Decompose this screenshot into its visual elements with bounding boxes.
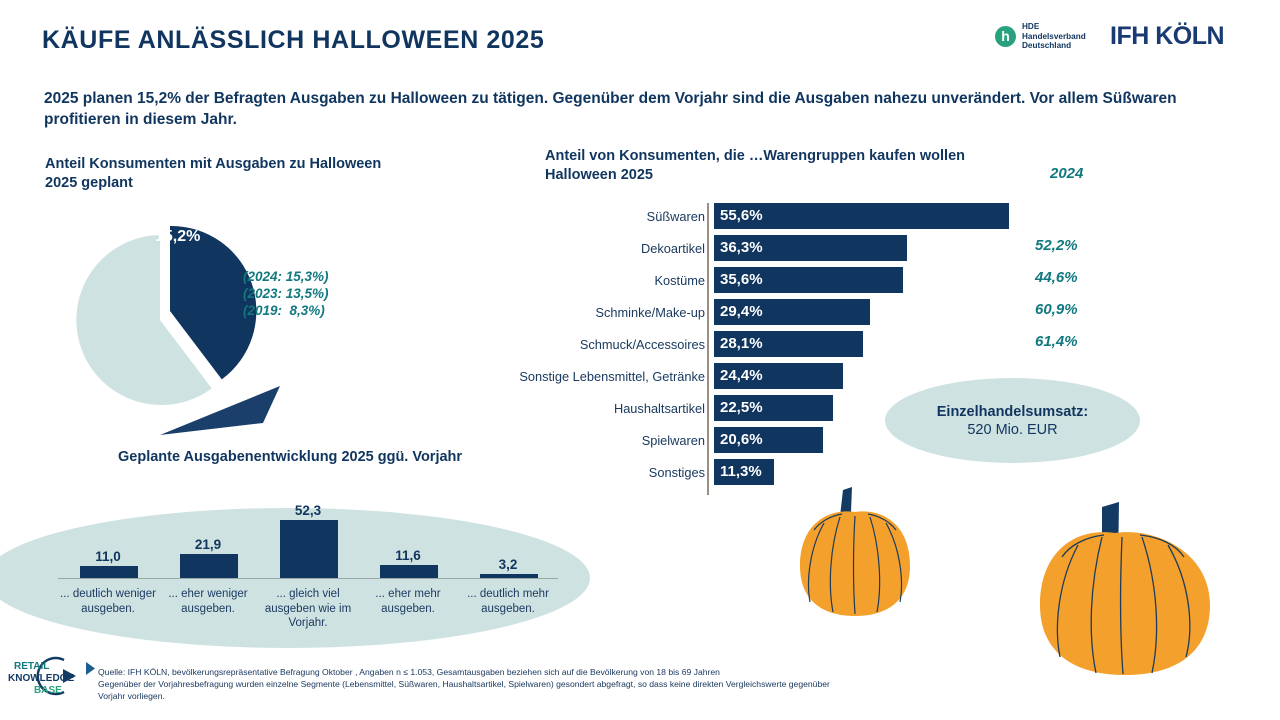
svg-text:BASE: BASE — [34, 685, 62, 696]
distribution-column: 21,9... eher weniger ausgeben. — [158, 515, 258, 645]
bar-value-label: 28,1% — [720, 331, 763, 357]
bar-category-label: Schmuck/Accessoires — [455, 337, 714, 352]
distribution-category-label: ... gleich viel ausgeben wie im Vorjahr. — [258, 587, 358, 631]
bar-value-label: 55,6% — [720, 203, 763, 229]
bar-value-label: 11,3% — [720, 459, 762, 485]
distribution-bar — [80, 566, 138, 578]
bar-track: 28,1% — [714, 331, 1015, 357]
pie-value-label: 15,2% — [155, 228, 200, 246]
distribution-value-label: 52,3 — [258, 503, 358, 518]
distribution-category-label: ... deutlich mehr ausgeben. — [458, 587, 558, 616]
footnote-line1: Quelle: IFH KÖLN, bevölkerungsrepräsenta… — [98, 667, 1268, 679]
footnote: Quelle: IFH KÖLN, bevölkerungsrepräsenta… — [98, 667, 1268, 702]
pumpkin-small-icon — [780, 468, 930, 623]
distribution-category-label: ... eher weniger ausgeben. — [158, 587, 258, 616]
retail-sales-label: Einzelhandelsumsatz: — [937, 404, 1088, 420]
distribution-value-label: 21,9 — [158, 537, 258, 552]
distribution-column: 3,2... deutlich mehr ausgeben. — [458, 515, 558, 645]
bar-category-label: Haushaltsartikel — [455, 401, 714, 416]
pie-history-note: (2024: 15,3%) (2023: 13,5%) (2019: 8,3%) — [243, 268, 329, 319]
distribution-value-label: 11,6 — [358, 548, 458, 563]
hde-mark-icon: h — [995, 26, 1016, 47]
bar-value-label: 29,4% — [720, 299, 763, 325]
prev-year-value: 60,9% — [1035, 301, 1078, 318]
bar-row: Kostüme35,6% — [455, 264, 1015, 296]
bar-category-label: Schminke/Make-up — [455, 305, 714, 320]
distribution-column: 11,0... deutlich weniger ausgeben. — [58, 515, 158, 645]
svg-text:KNOWLEDGE: KNOWLEDGE — [8, 673, 74, 684]
distribution-chart-title: Geplante Ausgabenentwicklung 2025 ggü. V… — [118, 448, 462, 467]
bar-value-label: 35,6% — [720, 267, 763, 293]
bar-track: 36,3% — [714, 235, 1015, 261]
distribution-chart: 11,0... deutlich weniger ausgeben.21,9..… — [58, 515, 558, 645]
bar-category-label: Sonstiges — [455, 465, 714, 480]
bar-row: Süßwaren55,6% — [455, 200, 1015, 232]
bar-value-label: 20,6% — [720, 427, 763, 453]
bar-chart-title: Anteil von Konsumenten, die …Warengruppe… — [545, 147, 975, 185]
hde-logo-text: HDE Handelsverband Deutschland — [1022, 22, 1086, 51]
distribution-bar — [180, 554, 238, 578]
bar-category-label: Dekoartikel — [455, 241, 714, 256]
prev-year-value: 61,4% — [1035, 333, 1078, 350]
bar-category-label: Kostüme — [455, 273, 714, 288]
bar-value-label: 36,3% — [720, 235, 763, 261]
retail-sales-callout: Einzelhandelsumsatz: 520 Mio. EUR — [885, 378, 1140, 463]
bar-row: Sonstiges11,3% — [455, 456, 1015, 488]
distribution-category-label: ... deutlich weniger ausgeben. — [58, 587, 158, 616]
prev-year-header: 2024 — [1050, 165, 1083, 182]
distribution-bar — [280, 520, 338, 578]
page-title: KÄUFE ANLÄSSLICH HALLOWEEN 2025 — [42, 26, 544, 55]
distribution-value-label: 3,2 — [458, 557, 558, 572]
retail-sales-value: 520 Mio. EUR — [967, 422, 1057, 438]
bar-value-label: 24,4% — [720, 363, 763, 389]
distribution-value-label: 11,0 — [58, 549, 158, 564]
ifh-koeln-logo: IFH KÖLN — [1110, 22, 1224, 51]
footer-arrow-icon — [86, 662, 95, 675]
pumpkin-large-icon — [1018, 475, 1233, 680]
distribution-category-label: ... eher mehr ausgeben. — [358, 587, 458, 616]
footnote-line3: Vorjahr vorliegen. — [98, 691, 1268, 703]
bar-row: Dekoartikel36,3% — [455, 232, 1015, 264]
bar-category-label: Sonstige Lebensmittel, Getränke — [455, 369, 714, 384]
bar-row: Schmuck/Accessoires28,1% — [455, 328, 1015, 360]
bar-category-label: Spielwaren — [455, 433, 714, 448]
bar-track: 29,4% — [714, 299, 1015, 325]
bar-value-label: 22,5% — [720, 395, 763, 421]
distribution-column: 52,3... gleich viel ausgeben wie im Vorj… — [258, 515, 358, 645]
retail-knowledge-base-logo: RETAIL KNOWLEDGE BASE — [6, 652, 88, 700]
subtitle-text: 2025 planen 15,2% der Befragten Ausgaben… — [44, 88, 1254, 130]
hde-logo: h HDE Handelsverband Deutschland — [995, 22, 1086, 51]
distribution-bar — [480, 574, 538, 578]
distribution-column: 11,6... eher mehr ausgeben. — [358, 515, 458, 645]
bar-row: Schminke/Make-up29,4% — [455, 296, 1015, 328]
prev-year-value: 52,2% — [1035, 237, 1078, 254]
footnote-line2: Gegenüber der Vorjahresbefragung wurden … — [98, 679, 1268, 691]
prev-year-value: 44,6% — [1035, 269, 1078, 286]
hde-logo-line3: Deutschland — [1022, 41, 1086, 51]
pie-chart-title: Anteil Konsumenten mit Ausgaben zu Hallo… — [45, 155, 405, 193]
distribution-bar — [380, 565, 438, 578]
svg-text:RETAIL: RETAIL — [14, 661, 49, 672]
bar-track: 55,6% — [714, 203, 1015, 229]
hde-logo-line1: HDE — [1022, 22, 1086, 32]
hde-logo-line2: Handelsverband — [1022, 32, 1086, 42]
bar-category-label: Süßwaren — [455, 209, 714, 224]
bar-track: 35,6% — [714, 267, 1015, 293]
